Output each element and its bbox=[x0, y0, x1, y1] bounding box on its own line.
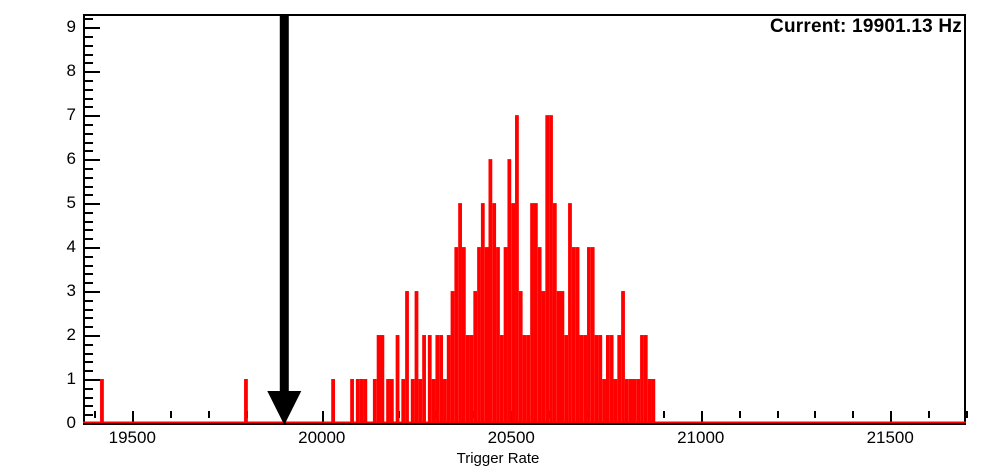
y-axis-labels: 0123456789 bbox=[44, 0, 76, 472]
histogram-bin bbox=[356, 379, 360, 423]
histogram-bin bbox=[360, 379, 364, 423]
histogram-bin bbox=[504, 247, 508, 423]
histogram-bin bbox=[418, 379, 422, 423]
histogram-bin bbox=[621, 291, 625, 423]
histogram-bin bbox=[644, 335, 648, 423]
y-axis-tick-label: 4 bbox=[46, 237, 76, 257]
histogram-bin bbox=[488, 159, 492, 423]
histogram-bin bbox=[561, 291, 565, 423]
histogram-bin bbox=[568, 203, 572, 423]
histogram-bin bbox=[500, 335, 504, 423]
y-axis-tick-label: 5 bbox=[46, 193, 76, 213]
histogram-bin bbox=[526, 335, 530, 423]
histogram-bin bbox=[625, 379, 629, 423]
histogram-bin bbox=[331, 379, 335, 423]
histogram-bin bbox=[583, 335, 587, 423]
histogram-bin bbox=[458, 203, 462, 423]
histogram-bin bbox=[629, 379, 633, 423]
x-axis-tick-label: 21000 bbox=[677, 428, 724, 448]
histogram-bin bbox=[473, 291, 477, 423]
histogram-bin bbox=[422, 335, 426, 423]
y-axis-tick-label: 3 bbox=[46, 281, 76, 301]
histogram-bin bbox=[485, 247, 489, 423]
histogram-bin bbox=[538, 247, 542, 423]
histogram-bin bbox=[640, 335, 644, 423]
histogram-bin bbox=[350, 379, 354, 423]
histogram-bin bbox=[462, 247, 466, 423]
histogram-bin bbox=[411, 379, 415, 423]
histogram-series bbox=[83, 14, 966, 425]
histogram-bin bbox=[617, 335, 621, 423]
histogram-bin bbox=[610, 335, 614, 423]
histogram-bins bbox=[83, 14, 966, 423]
histogram-bin bbox=[439, 335, 443, 423]
histogram-bin bbox=[598, 335, 602, 423]
histogram-bin bbox=[470, 335, 474, 423]
histogram-bin bbox=[572, 247, 576, 423]
histogram-bin bbox=[651, 379, 655, 423]
histogram-bin bbox=[507, 159, 511, 423]
x-axis-tick-label: 20500 bbox=[488, 428, 535, 448]
histogram-bin bbox=[606, 335, 610, 423]
histogram-bin bbox=[363, 379, 367, 423]
histogram-bin bbox=[447, 335, 451, 423]
histogram-bin bbox=[390, 379, 394, 423]
histogram-bin bbox=[380, 335, 384, 423]
x-axis-minor-tick bbox=[966, 411, 968, 418]
histogram-bin bbox=[557, 291, 561, 423]
x-axis-tick-label: 21500 bbox=[867, 428, 914, 448]
histogram-bin bbox=[648, 379, 652, 423]
histogram-bin bbox=[579, 335, 583, 423]
trigger-rate-histogram-plot: Current: 19901.13 Hz 0123456789 19500200… bbox=[0, 0, 996, 472]
histogram-bin bbox=[595, 335, 599, 423]
histogram-bin bbox=[587, 247, 591, 423]
histogram-bin bbox=[545, 115, 549, 423]
histogram-bin bbox=[591, 247, 595, 423]
histogram-bin bbox=[435, 335, 439, 423]
histogram-bin bbox=[386, 379, 390, 423]
histogram-baseline bbox=[83, 422, 966, 424]
y-axis-tick-label: 6 bbox=[46, 149, 76, 169]
histogram-bin bbox=[576, 247, 580, 423]
histogram-bin bbox=[519, 291, 523, 423]
x-axis-title: Trigger Rate bbox=[0, 450, 996, 467]
histogram-bin bbox=[377, 335, 381, 423]
histogram-bin bbox=[523, 335, 527, 423]
histogram-bin bbox=[451, 291, 455, 423]
y-axis-tick-label: 0 bbox=[46, 413, 76, 433]
histogram-bin bbox=[636, 379, 640, 423]
histogram-bin bbox=[477, 247, 481, 423]
histogram-bin bbox=[564, 335, 568, 423]
y-axis-tick-label: 1 bbox=[46, 369, 76, 389]
y-axis-tick-label: 8 bbox=[46, 61, 76, 81]
histogram-bin bbox=[443, 379, 447, 423]
histogram-bin bbox=[481, 203, 485, 423]
y-axis-tick-label: 2 bbox=[46, 325, 76, 345]
histogram-bin bbox=[549, 115, 553, 423]
y-axis-tick-label: 9 bbox=[46, 17, 76, 37]
histogram-bin bbox=[396, 335, 400, 423]
histogram-bin bbox=[401, 379, 405, 423]
histogram-bin bbox=[492, 203, 496, 423]
histogram-bin bbox=[454, 247, 458, 423]
histogram-bin bbox=[614, 379, 618, 423]
histogram-bin bbox=[432, 379, 436, 423]
histogram-bin bbox=[100, 379, 104, 423]
histogram-bin bbox=[602, 379, 606, 423]
y-axis-tick-label: 7 bbox=[46, 105, 76, 125]
histogram-bin bbox=[633, 379, 637, 423]
x-axis-tick-label: 19500 bbox=[109, 428, 156, 448]
histogram-bin bbox=[244, 379, 248, 423]
histogram-bin bbox=[534, 203, 538, 423]
histogram-bin bbox=[553, 203, 557, 423]
histogram-bin bbox=[496, 247, 500, 423]
histogram-bin bbox=[466, 335, 470, 423]
histogram-bin bbox=[542, 291, 546, 423]
x-axis-tick-label: 20000 bbox=[298, 428, 345, 448]
histogram-bin bbox=[415, 291, 419, 423]
histogram-bin bbox=[511, 203, 515, 423]
histogram-bin bbox=[373, 379, 377, 423]
histogram-bin bbox=[428, 335, 432, 423]
histogram-bin bbox=[515, 115, 519, 423]
histogram-bin bbox=[405, 291, 409, 423]
histogram-bin bbox=[530, 203, 534, 423]
